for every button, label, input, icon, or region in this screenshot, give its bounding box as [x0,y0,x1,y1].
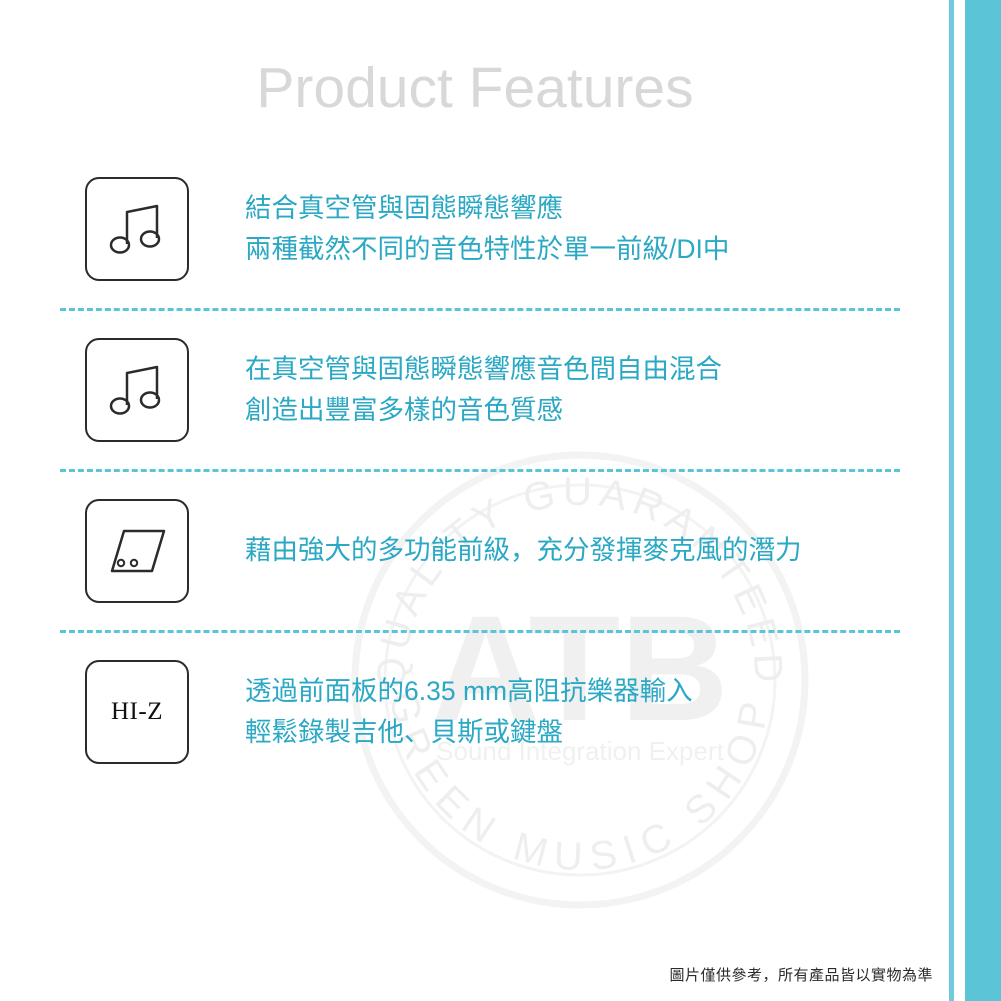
product-features-page: QUALITY GUARANTEED GREEN MUSIC SHOP ATB … [0,0,1001,1001]
mic-capsule-icon [85,499,189,603]
footer-disclaimer: 圖片僅供參考，所有產品皆以實物為準 [669,964,933,985]
feature-text-line: 結合真空管與固態瞬態響應 [245,188,729,229]
feature-text: 透過前面板的6.35 mm高阻抗樂器輸入 輕鬆錄製吉他、貝斯或鍵盤 [245,671,693,753]
feature-text-line: 在真空管與固態瞬態響應音色間自由混合 [245,349,722,390]
feature-row: 藉由強大的多功能前級，充分發揮麥克風的潛力 [0,472,950,630]
right-accent-bar [965,0,1001,1001]
music-note-icon [85,338,189,442]
feature-row: 在真空管與固態瞬態響應音色間自由混合 創造出豐富多樣的音色質感 [0,311,950,469]
feature-text-line: 透過前面板的6.35 mm高阻抗樂器輸入 [245,671,693,712]
feature-text-line: 創造出豐富多樣的音色質感 [245,390,722,431]
feature-text-line: 兩種截然不同的音色特性於單一前級/DI中 [245,229,729,270]
feature-text-line: 藉由強大的多功能前級，充分發揮麥克風的潛力 [245,530,802,571]
right-gap-bar [954,0,965,1001]
feature-list: 結合真空管與固態瞬態響應 兩種截然不同的音色特性於單一前級/DI中 在真空管與固… [0,150,950,791]
hi-z-label: HI-Z [111,698,163,726]
feature-text: 在真空管與固態瞬態響應音色間自由混合 創造出豐富多樣的音色質感 [245,349,722,431]
feature-text-line: 輕鬆錄製吉他、貝斯或鍵盤 [245,712,693,753]
music-note-icon [85,177,189,281]
feature-row: 結合真空管與固態瞬態響應 兩種截然不同的音色特性於單一前級/DI中 [0,150,950,308]
feature-text: 結合真空管與固態瞬態響應 兩種截然不同的音色特性於單一前級/DI中 [245,188,729,270]
hi-z-icon: HI-Z [85,660,189,764]
page-title: Product Features [0,55,950,121]
feature-text: 藉由強大的多功能前級，充分發揮麥克風的潛力 [245,530,802,571]
feature-row: HI-Z 透過前面板的6.35 mm高阻抗樂器輸入 輕鬆錄製吉他、貝斯或鍵盤 [0,633,950,791]
